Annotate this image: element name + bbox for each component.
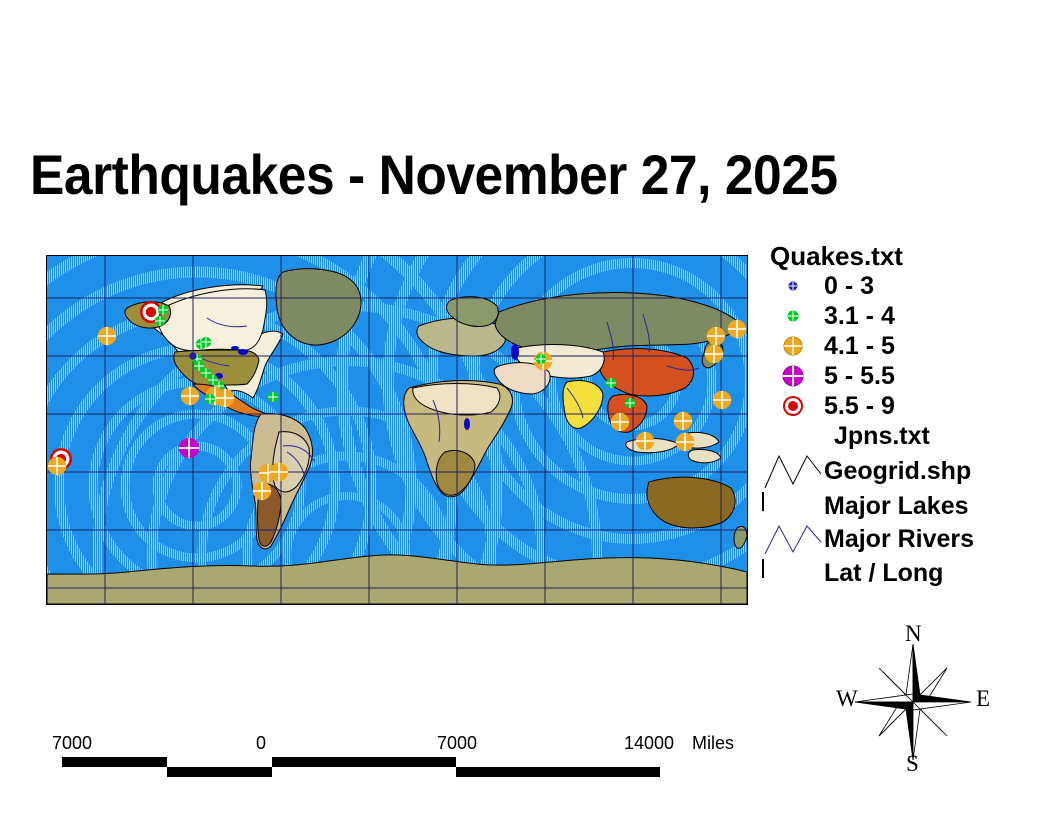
scale-seg-top-3 [272, 757, 456, 767]
legend-label-mag-0-3: 0 - 3 [824, 272, 874, 301]
quake-marker[interactable] [205, 394, 215, 404]
legend-label-mag-4.1-5: 4.1 - 5 [824, 332, 895, 361]
quake-marker[interactable] [98, 327, 116, 345]
legend-row-mag-5.5-9[interactable]: 5.5 - 9 [762, 391, 1052, 421]
quake-marker[interactable] [155, 316, 165, 326]
quake-marker[interactable] [707, 327, 725, 345]
scale-units-label: Miles [692, 733, 734, 754]
scale-label-0: 7000 [52, 733, 92, 754]
legend-label-major-rivers: Major Rivers [824, 525, 974, 554]
quake-marker[interactable] [268, 392, 278, 402]
legend-title-quakes: Quakes.txt [770, 241, 1052, 271]
page-title: Earthquakes - November 27, 2025 [30, 142, 968, 212]
quake-marker[interactable] [625, 398, 635, 408]
zigzag-blue-icon [762, 521, 824, 557]
legend-row-mag-5-5.5[interactable]: 5 - 5.5 [762, 361, 1052, 391]
scale-seg-top-4 [456, 757, 660, 767]
world-map-canvas [47, 256, 747, 604]
zigzag-black-icon [762, 451, 824, 491]
scale-bar: 7000 0 7000 14000 Miles [52, 733, 732, 755]
quake-symbol-5.5-9-icon [762, 391, 824, 421]
scale-bar-labels: 7000 0 7000 14000 Miles [52, 733, 732, 755]
lat-long-swatch [762, 560, 824, 586]
legend-label-geogrid: Geogrid.shp [824, 457, 971, 486]
quake-marker[interactable] [181, 387, 199, 405]
quake-marker[interactable] [179, 438, 199, 458]
quake-symbol-3.1-4-icon [762, 301, 824, 331]
swatch-fill-latlong [762, 559, 764, 578]
scale-seg-bot-3 [272, 767, 456, 777]
scale-label-3: 14000 [624, 733, 674, 754]
quake-marker[interactable] [253, 482, 271, 500]
scale-seg-bot-1 [62, 767, 167, 777]
quake-marker[interactable] [674, 412, 692, 430]
quake-marker[interactable] [270, 463, 288, 481]
major-lakes-swatch [762, 493, 824, 519]
legend-label-lat-long: Lat / Long [824, 559, 943, 588]
scale-bar-graphic [62, 757, 660, 777]
quake-marker[interactable] [190, 353, 197, 360]
legend-label-jpns: Jpns.txt [834, 422, 930, 451]
quake-symbol-5-5.5-icon [762, 361, 824, 391]
quake-marker[interactable] [536, 354, 546, 364]
legend-label-mag-5-5.5: 5 - 5.5 [824, 362, 895, 391]
quake-marker[interactable] [611, 413, 629, 431]
compass-rose-icon [828, 622, 998, 782]
quake-marker[interactable] [48, 457, 66, 475]
quake-marker[interactable] [216, 389, 234, 407]
scale-bar-row-top [62, 757, 660, 767]
quake-marker[interactable] [676, 433, 694, 451]
scale-label-1: 0 [256, 733, 266, 754]
scale-seg-bot-4 [456, 767, 660, 777]
quake-marker[interactable] [636, 432, 654, 450]
legend-row-geogrid[interactable]: Geogrid.shp [762, 451, 1052, 491]
quake-marker[interactable] [705, 345, 723, 363]
legend-row-mag-3.1-4[interactable]: 3.1 - 4 [762, 301, 1052, 331]
quake-marker[interactable] [713, 391, 731, 409]
scale-label-2: 7000 [437, 733, 477, 754]
scale-seg-top-1 [62, 757, 167, 767]
legend-label-mag-3.1-4: 3.1 - 4 [824, 302, 895, 331]
legend-row-mag-0-3[interactable]: 0 - 3 [762, 271, 1052, 301]
swatch-fill-lakes [762, 492, 764, 511]
legend-row-mag-4.1-5[interactable]: 4.1 - 5 [762, 331, 1052, 361]
scale-bar-row-bottom [62, 767, 660, 777]
map-legend: Quakes.txt 0 - 3 3.1 - 4 [762, 241, 1052, 589]
legend-label-mag-5.5-9: 5.5 - 9 [824, 392, 895, 421]
quake-marker[interactable] [158, 305, 168, 315]
legend-row-major-rivers[interactable]: Major Rivers [762, 521, 1052, 557]
quake-marker[interactable] [728, 320, 746, 338]
legend-row-jpns[interactable]: Jpns.txt [762, 421, 1052, 451]
quake-symbol-4.1-5-icon [762, 331, 824, 361]
legend-row-major-lakes[interactable]: Major Lakes [762, 491, 1052, 521]
quake-marker[interactable] [201, 337, 211, 347]
compass-rose: N S W E [828, 622, 998, 782]
legend-label-major-lakes: Major Lakes [824, 492, 969, 521]
world-map[interactable] [46, 255, 748, 605]
scale-seg-bot-2 [167, 767, 272, 777]
jpns-symbol-placeholder [762, 421, 824, 451]
scale-seg-top-2 [167, 757, 272, 767]
quake-symbol-0-3-icon [762, 271, 824, 301]
legend-row-lat-long[interactable]: Lat / Long [762, 557, 1052, 589]
quake-marker[interactable] [606, 378, 616, 388]
